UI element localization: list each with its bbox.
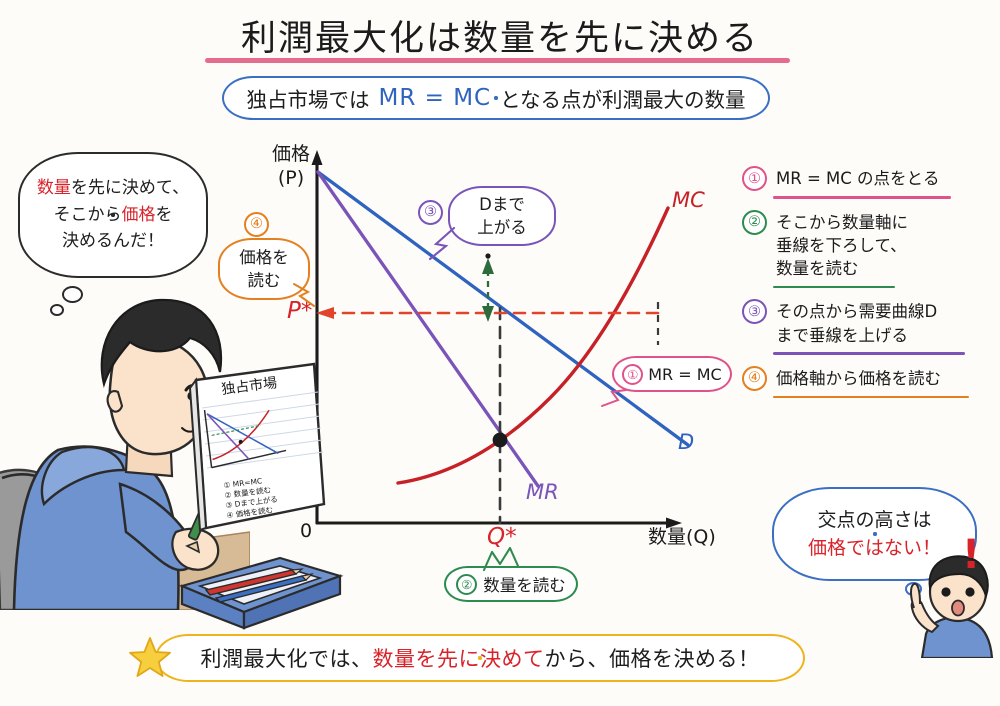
step-item-2[interactable]: ② そこから数量軸に 垂線を下ろして、 数量を読む xyxy=(742,210,994,281)
banner-highlight: 数量を先に決めて xyxy=(373,643,545,673)
callout-1-number: ① xyxy=(622,364,643,385)
step-1-underline xyxy=(773,196,951,199)
thought-line2-highlight: 価格 xyxy=(122,205,156,225)
banner-before: 利潤最大化では、 xyxy=(201,643,373,673)
callout-2-tail xyxy=(478,544,526,572)
thought-line3: 決めるんだ！ xyxy=(37,228,189,254)
step-4-underline xyxy=(773,396,969,399)
step-1-line-1: MR = MC の点をとる xyxy=(776,167,940,190)
step-item-4[interactable]: ④ 価格軸から価格を読む xyxy=(742,366,994,391)
d-point-dot xyxy=(485,253,490,258)
callout-4-number: ④ xyxy=(244,212,269,237)
small-boy-eye-left xyxy=(941,587,950,596)
small-boy-mouth xyxy=(952,601,964,616)
thought-line1-highlight: 数量 xyxy=(37,178,71,198)
mr-curve-label: MR xyxy=(526,480,559,504)
step-2-line-3: 数量を読む xyxy=(776,257,908,280)
demand-curve-label: D xyxy=(678,430,694,454)
thought-line1-rest: を先に決めて、 xyxy=(71,178,189,198)
callout-4-tail xyxy=(292,282,322,310)
callout-2-text: 数量を読む xyxy=(483,572,566,596)
callout-1-tail xyxy=(600,388,634,414)
steps-list: ① MR = MC の点をとる ② そこから数量軸に 垂線を下ろして、 数量を読… xyxy=(742,166,994,409)
subtitle-before: 独占市場では xyxy=(246,83,369,113)
callout-3-rise-to-d: ③ Dまで 上がる xyxy=(448,186,556,246)
pointing-finger-icon xyxy=(911,584,920,608)
step-4-number: ④ xyxy=(742,366,767,391)
thought-line2-tail: を xyxy=(156,205,173,225)
step-3-number: ③ xyxy=(742,299,767,324)
subtitle-bubble: 独占市場では MR = MC となる点が利潤最大の数量 xyxy=(222,76,770,120)
step-2-line-2: 垂線を下ろして、 xyxy=(776,234,908,257)
subtitle-formula: MR = MC xyxy=(369,85,500,111)
exclamation-icon: ! xyxy=(962,532,980,578)
page-title: 利潤最大化は数量を先に決める xyxy=(0,10,1000,61)
callout-3-tail xyxy=(424,226,464,262)
notebook-illustration: 独占市場 ① MR=MC ② 数量を読む ③ Dまで上がる ④ 価格を読む xyxy=(186,362,326,532)
step-3-line-2: まで垂線を上げる xyxy=(776,324,937,347)
callout-2-number: ② xyxy=(456,574,477,595)
step-2-number: ② xyxy=(742,210,767,235)
thought-bubble: 数量を先に決めて、 そこから価格を 決めるんだ！ xyxy=(18,152,208,278)
callout-3-line2: 上がる xyxy=(477,216,527,239)
callout-3-line1: Dまで xyxy=(477,193,527,216)
step-4-line-1: 価格軸から価格を読む xyxy=(776,367,941,390)
small-boy-illustration xyxy=(896,548,1000,658)
step-item-1[interactable]: ① MR = MC の点をとる xyxy=(742,166,994,191)
callout-3-number: ③ xyxy=(418,200,443,225)
step-item-3[interactable]: ③ その点から需要曲線D まで垂線を上げる xyxy=(742,299,994,347)
callout-1-text: MR = MC xyxy=(648,365,721,384)
mc-curve-label: MC xyxy=(672,188,705,212)
step-1-number: ① xyxy=(742,166,767,191)
banner-after: から、価格を決める！ xyxy=(545,643,760,673)
step-3-underline xyxy=(773,352,965,355)
summary-banner: 利潤最大化では、数量を先に決めてから、価格を決める！ xyxy=(155,634,805,682)
step-2-line-1: そこから数量軸に xyxy=(776,211,908,234)
title-underline xyxy=(205,58,790,63)
pencil-case-illustration xyxy=(170,540,350,632)
subtitle-after: となる点が利潤最大の数量 xyxy=(500,83,745,113)
mr-mc-intersection-dot xyxy=(493,433,508,448)
callout-4-line1: 価格を xyxy=(239,246,289,269)
callout-1-mr-equals-mc: ① MR = MC xyxy=(612,356,732,392)
notice-line1: 交点の高さは xyxy=(808,506,941,535)
star-icon xyxy=(128,636,172,680)
step-2-underline xyxy=(773,286,895,289)
small-boy-eye-right xyxy=(965,587,974,596)
thought-line2-rest: そこから xyxy=(54,205,122,225)
step-3-line-1: その点から需要曲線D xyxy=(776,300,937,323)
